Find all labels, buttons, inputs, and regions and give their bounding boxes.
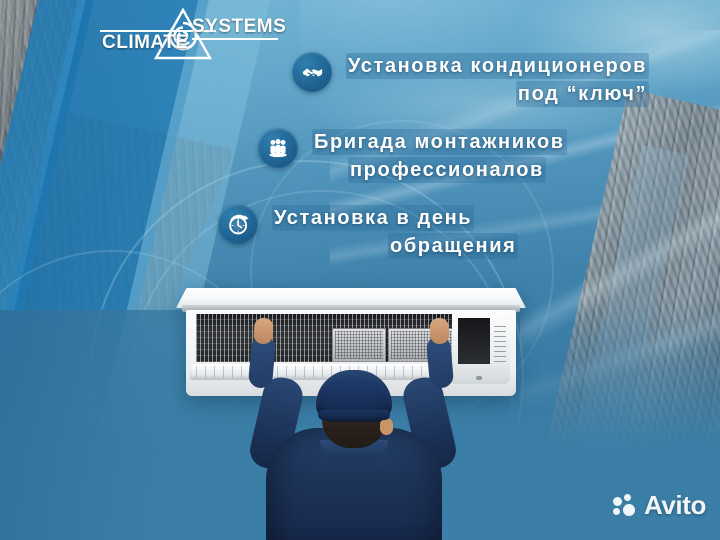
avito-dots-logo-icon [613,494,637,516]
logo-climate-text: CLIMATE [102,32,189,54]
technician-figure [228,366,478,540]
feature-text-team: Бригада монтажников профессионалов [314,128,565,184]
feature-item-turnkey-installation: Установка кондиционеров под “ключ” [292,52,647,108]
feature-text-turnkey: Установка кондиционеров под “ключ” [348,52,647,108]
logo-systems-text: SYSTEMS [192,16,286,38]
feature-item-professional-team: Бригада монтажников профессионалов [258,128,565,184]
ac-side-vent [458,318,490,364]
handshake-icon [292,52,332,92]
feature-item-same-day-installation: Установка в день обращения [218,204,516,260]
feature-line-1: Установка в день [274,207,472,229]
avito-label: Avito [644,490,706,521]
ac-filter-mesh [335,331,383,359]
feature-line-2: профессионалов [350,159,544,181]
feature-line-2: обращения [390,235,516,257]
feature-line-1: Бригада монтажников [314,131,565,153]
feature-line-2: под “ключ” [518,83,647,105]
technician-left-hand [253,317,274,344]
brand-logo: CLIMATE SYSTEMS [96,6,276,64]
group-people-icon [258,128,298,168]
clock-arrow-icon [218,204,258,244]
advertisement-banner: CLIMATE SYSTEMS Установка кондиционеров … [0,0,720,540]
ac-side-grille [494,322,506,362]
logo-rule-bottom [192,38,278,40]
feature-text-same-day: Установка в день обращения [274,204,516,260]
technician-cap-band [318,410,390,420]
ac-filter-panel [332,328,386,362]
avito-watermark: Avito [613,490,706,520]
technician-right-hand [429,317,450,344]
feature-line-1: Установка кондиционеров [348,55,647,77]
